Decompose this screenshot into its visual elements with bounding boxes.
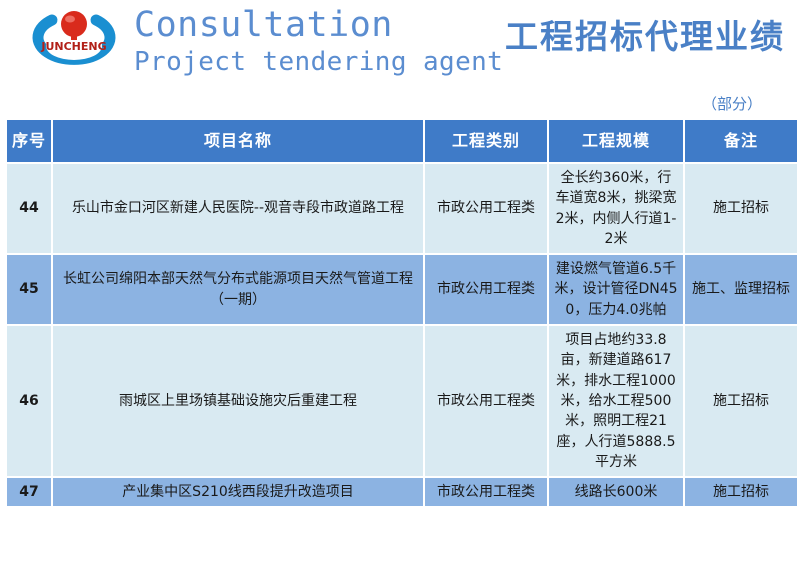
performance-table: 序号 项目名称 工程类别 工程规模 备注 44 乐山市金口河区新建人民医院--观… — [5, 118, 799, 508]
cell-project-name: 产业集中区S210线西段提升改造项目 — [53, 478, 423, 506]
cell-remark: 施工、监理招标 — [685, 255, 797, 324]
table-row: 44 乐山市金口河区新建人民医院--观音寺段市政道路工程 市政公用工程类 全长约… — [7, 164, 797, 253]
col-header-index: 序号 — [7, 120, 51, 162]
cell-project-scale: 建设燃气管道6.5千米，设计管径DN450，压力4.0兆帕 — [549, 255, 683, 324]
cell-project-name: 乐山市金口河区新建人民医院--观音寺段市政道路工程 — [53, 164, 423, 253]
col-header-project-scale: 工程规模 — [549, 120, 683, 162]
cell-remark: 施工招标 — [685, 326, 797, 476]
col-header-remark: 备注 — [685, 120, 797, 162]
cell-remark: 施工招标 — [685, 478, 797, 506]
table-body: 44 乐山市金口河区新建人民医院--观音寺段市政道路工程 市政公用工程类 全长约… — [7, 164, 797, 506]
cell-project-type: 市政公用工程类 — [425, 164, 547, 253]
brand-english: Consultation Project tendering agent — [134, 8, 503, 75]
brand-line-1: Consultation — [134, 8, 503, 43]
cell-index: 44 — [7, 164, 51, 253]
brand-line-2: Project tendering agent — [134, 49, 503, 75]
table-row: 46 雨城区上里场镇基础设施灾后重建工程 市政公用工程类 项目占地约33.8亩，… — [7, 326, 797, 476]
table-header-row: 序号 项目名称 工程类别 工程规模 备注 — [7, 120, 797, 162]
cell-project-scale: 线路长600米 — [549, 478, 683, 506]
col-header-project-type: 工程类别 — [425, 120, 547, 162]
cell-index: 46 — [7, 326, 51, 476]
cell-project-type: 市政公用工程类 — [425, 478, 547, 506]
table-row: 45 长虹公司绵阳本部天然气分布式能源项目天然气管道工程（一期） 市政公用工程类… — [7, 255, 797, 324]
juncheng-logo: JUNCHENG — [22, 6, 126, 74]
cell-project-scale: 项目占地约33.8亩，新建道路617米，排水工程1000米，给水工程500米，照… — [549, 326, 683, 476]
cell-index: 47 — [7, 478, 51, 506]
logo-wordmark: JUNCHENG — [40, 40, 106, 53]
cell-remark: 施工招标 — [685, 164, 797, 253]
cell-project-type: 市政公用工程类 — [425, 326, 547, 476]
cell-project-name: 长虹公司绵阳本部天然气分布式能源项目天然气管道工程（一期） — [53, 255, 423, 324]
col-header-project-name: 项目名称 — [53, 120, 423, 162]
cell-index: 45 — [7, 255, 51, 324]
page-header: JUNCHENG Consultation Project tendering … — [0, 0, 800, 92]
table-row: 47 产业集中区S210线西段提升改造项目 市政公用工程类 线路长600米 施工… — [7, 478, 797, 506]
cell-project-scale: 全长约360米，行车道宽8米，挑梁宽2米，内侧人行道1-2米 — [549, 164, 683, 253]
page-title: 工程招标代理业绩 — [505, 10, 785, 58]
partial-note: （部分） — [702, 93, 762, 114]
performance-table-wrapper: 序号 项目名称 工程类别 工程规模 备注 44 乐山市金口河区新建人民医院--观… — [5, 118, 795, 508]
cell-project-name: 雨城区上里场镇基础设施灾后重建工程 — [53, 326, 423, 476]
cell-project-type: 市政公用工程类 — [425, 255, 547, 324]
